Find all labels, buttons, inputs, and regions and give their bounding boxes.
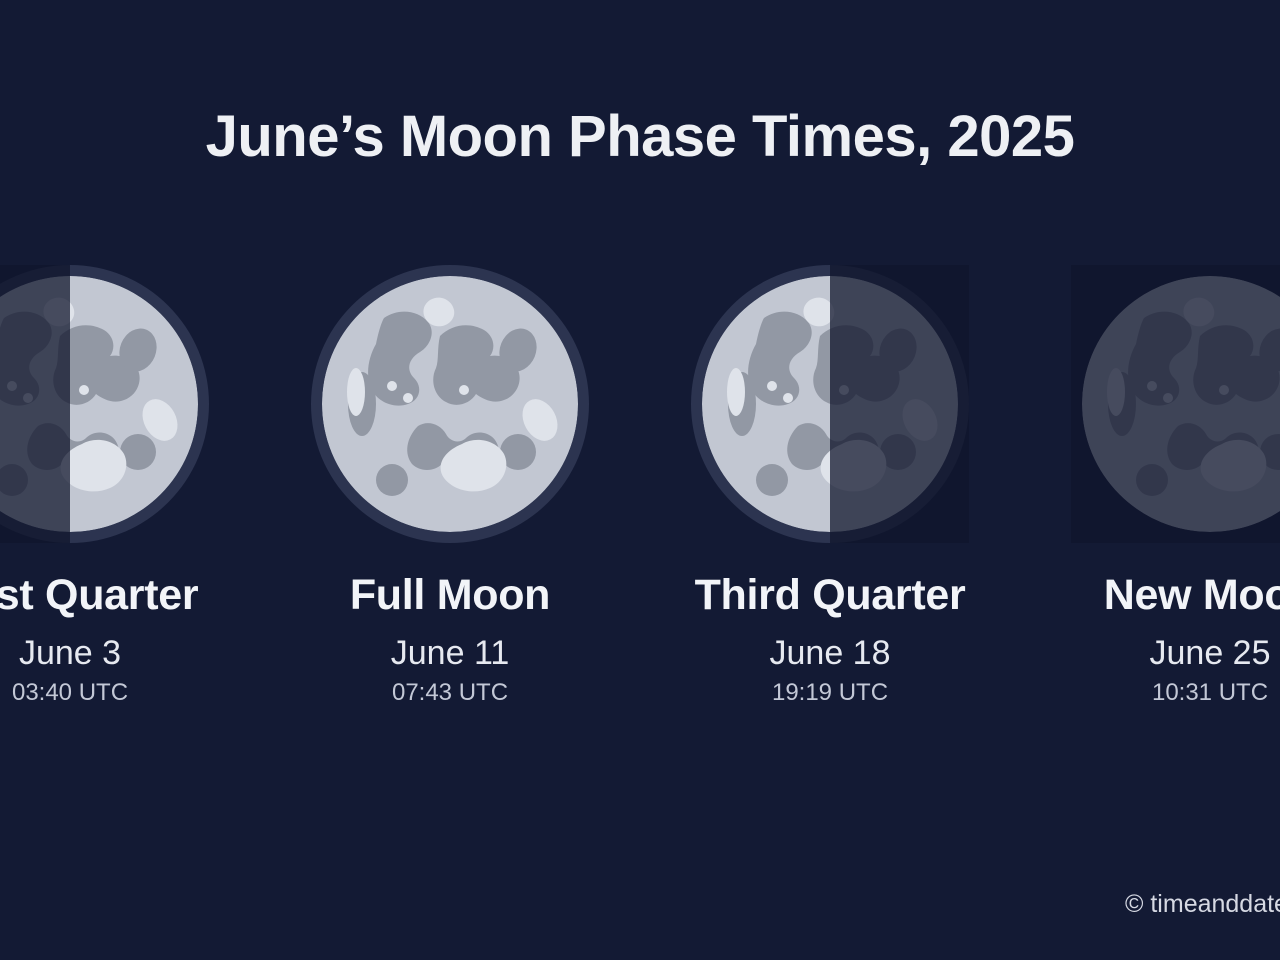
copyright-credit: © timeanddate.com	[1125, 890, 1280, 919]
moon-disc	[322, 276, 578, 532]
phase-card-new-moon: New Moon June 25 10:31 UTC	[1020, 265, 1280, 707]
phase-label: New Moon	[1020, 571, 1280, 620]
moon-graphic-first-quarter	[0, 265, 209, 543]
moon-shadow-left	[0, 265, 70, 543]
phase-time: 19:19 UTC	[640, 679, 1020, 707]
phase-label: Third Quarter	[640, 571, 1020, 620]
phase-time: 03:40 UTC	[0, 679, 260, 707]
moon-surface-icon	[322, 276, 578, 532]
phase-date: June 18	[640, 634, 1020, 673]
phase-date: June 25	[1020, 634, 1280, 673]
moon-graphic-full-moon	[311, 265, 589, 543]
moon-graphic-new-moon	[1071, 265, 1280, 543]
moon-graphic-third-quarter	[691, 265, 969, 543]
phase-label: First Quarter	[0, 571, 260, 620]
phase-card-first-quarter: First Quarter June 3 03:40 UTC	[0, 265, 260, 707]
moon-shadow-full	[1071, 265, 1280, 543]
phase-date: June 3	[0, 634, 260, 673]
moon-phase-infographic: June’s Moon Phase Times, 2025	[0, 0, 1280, 960]
phase-date: June 11	[260, 634, 640, 673]
phase-card-third-quarter: Third Quarter June 18 19:19 UTC	[640, 265, 1020, 707]
phase-card-full-moon: Full Moon June 11 07:43 UTC	[260, 265, 640, 707]
phase-time: 07:43 UTC	[260, 679, 640, 707]
phase-row: First Quarter June 3 03:40 UTC	[0, 0, 1280, 960]
phase-label: Full Moon	[260, 571, 640, 620]
phase-time: 10:31 UTC	[1020, 679, 1280, 707]
moon-shadow-right	[830, 265, 969, 543]
